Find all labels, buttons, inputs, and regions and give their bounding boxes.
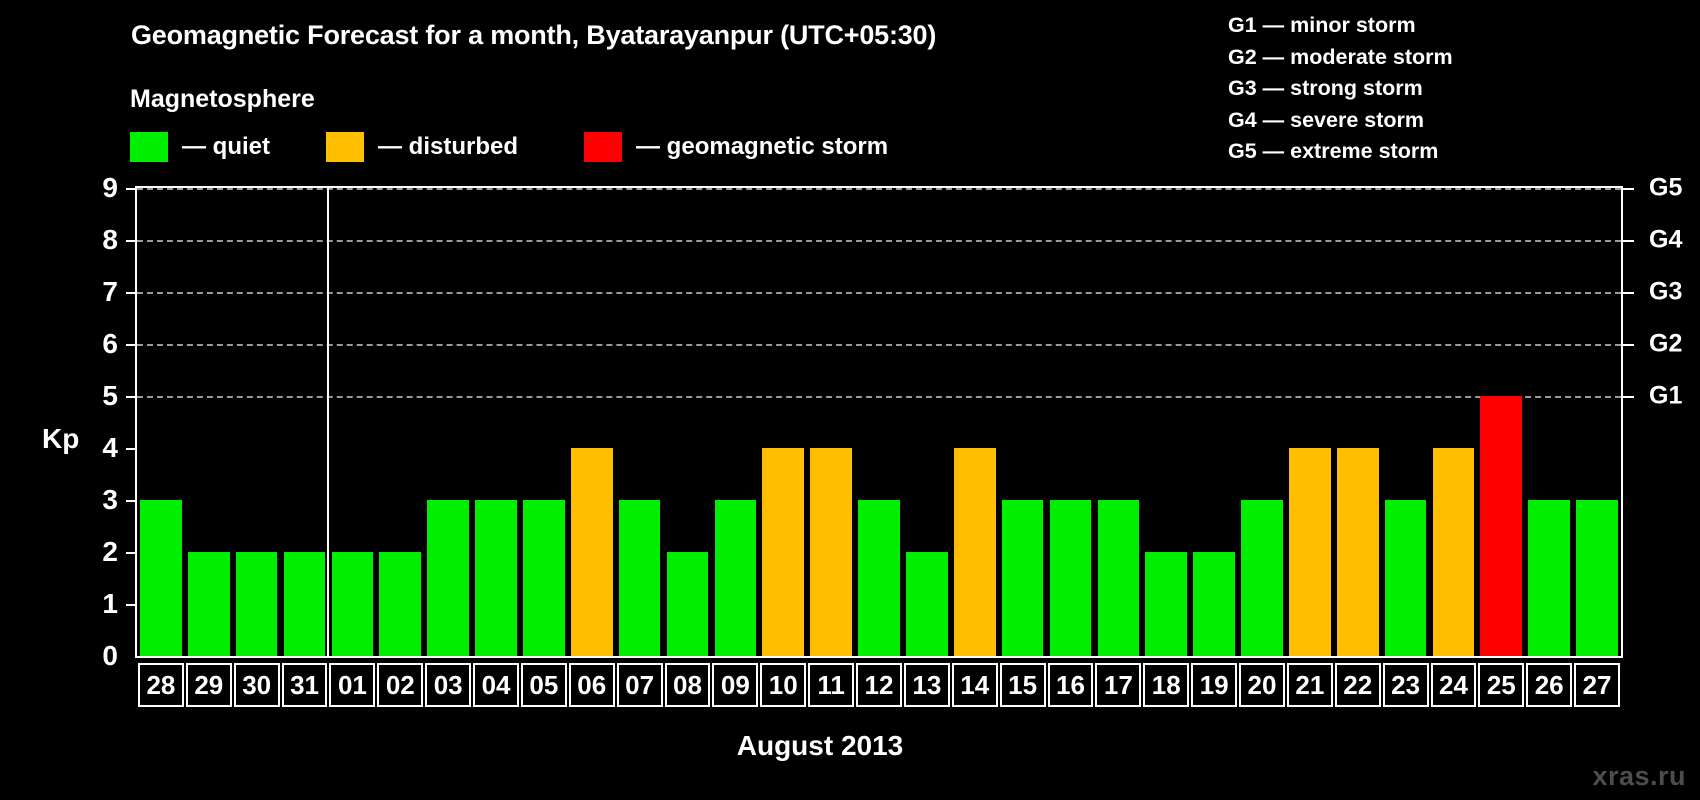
page-title: Geomagnetic Forecast for a month, Byatar… [131, 20, 936, 51]
bar [810, 448, 852, 656]
legend-label-quiet: — quiet [182, 133, 270, 161]
y-axis-tick-label: 4 [78, 432, 118, 464]
date-label: 21 [1287, 663, 1333, 707]
legend-swatch-storm [584, 132, 622, 162]
bar [1576, 500, 1618, 656]
date-label: 26 [1526, 663, 1572, 707]
y-axis-tick [126, 448, 135, 450]
legend-item-quiet: — quiet [130, 130, 270, 164]
bar [762, 448, 804, 656]
legend-item-storm: — geomagnetic storm [584, 130, 888, 164]
date-label: 20 [1239, 663, 1285, 707]
y-axis-tick-label: 0 [78, 640, 118, 672]
y-axis-tick [126, 500, 135, 502]
date-label: 11 [808, 663, 854, 707]
y-axis-tick-label: 2 [78, 536, 118, 568]
bar [1193, 552, 1235, 656]
date-label: 03 [425, 663, 471, 707]
bar [1002, 500, 1044, 656]
g-axis-tick-label: G3 [1649, 278, 1682, 307]
bar [715, 500, 757, 656]
y-axis-tick-label: 5 [78, 380, 118, 412]
date-label: 18 [1143, 663, 1189, 707]
bar [1241, 500, 1283, 656]
legend-swatch-disturbed [326, 132, 364, 162]
date-label: 17 [1095, 663, 1141, 707]
bar [475, 500, 517, 656]
bar [954, 448, 996, 656]
bars-container [137, 188, 1621, 656]
g-axis-tick-label: G4 [1649, 226, 1682, 255]
g-scale-item: G3 — strong storm [1228, 73, 1453, 105]
date-label: 29 [186, 663, 232, 707]
g-scale-legend: G1 — minor storm G2 — moderate storm G3 … [1228, 10, 1453, 168]
bar [1385, 500, 1427, 656]
magnetosphere-heading: Magnetosphere [130, 85, 315, 114]
date-label: 22 [1335, 663, 1381, 707]
date-label: 24 [1431, 663, 1477, 707]
legend-item-disturbed: — disturbed [326, 130, 518, 164]
bar [1289, 448, 1331, 656]
date-label: 10 [760, 663, 806, 707]
g-axis-tick [1623, 396, 1634, 398]
date-label: 09 [712, 663, 758, 707]
date-label: 23 [1383, 663, 1429, 707]
g-axis-tick-label: G1 [1649, 382, 1682, 411]
bar [1145, 552, 1187, 656]
g-axis-tick [1623, 344, 1634, 346]
y-axis-caption: Kp [42, 423, 79, 455]
date-label: 14 [952, 663, 998, 707]
bar [906, 552, 948, 656]
y-axis-tick-label: 8 [78, 224, 118, 256]
bar [188, 552, 230, 656]
g-axis-tick [1623, 292, 1634, 294]
date-label: 07 [617, 663, 663, 707]
plot-area [135, 186, 1623, 658]
g-scale-item: G2 — moderate storm [1228, 42, 1453, 74]
g-scale-item: G4 — severe storm [1228, 105, 1453, 137]
bar [1098, 500, 1140, 656]
g-scale-item: G1 — minor storm [1228, 10, 1453, 42]
bar [1480, 396, 1522, 656]
date-label: 15 [1000, 663, 1046, 707]
date-label: 01 [329, 663, 375, 707]
date-label: 12 [856, 663, 902, 707]
y-axis-tick [126, 240, 135, 242]
date-label: 16 [1048, 663, 1094, 707]
date-label: 19 [1191, 663, 1237, 707]
bar [1050, 500, 1092, 656]
date-label: 08 [665, 663, 711, 707]
y-axis-tick [126, 396, 135, 398]
x-axis-caption: August 2013 [0, 730, 1640, 762]
date-label: 05 [521, 663, 567, 707]
date-label: 31 [282, 663, 328, 707]
legend-label-storm: — geomagnetic storm [636, 133, 888, 161]
bar [571, 448, 613, 656]
date-label: 06 [569, 663, 615, 707]
y-axis-tick [126, 604, 135, 606]
y-axis-tick [126, 552, 135, 554]
date-label: 25 [1478, 663, 1524, 707]
bar [523, 500, 565, 656]
bar [284, 552, 326, 656]
bar [332, 552, 374, 656]
y-axis-tick [126, 292, 135, 294]
g-axis-tick [1623, 240, 1634, 242]
bar [379, 552, 421, 656]
bar [858, 500, 900, 656]
y-axis-tick-label: 3 [78, 484, 118, 516]
y-axis-tick-label: 1 [78, 588, 118, 620]
y-axis-tick [126, 188, 135, 190]
bar [1433, 448, 1475, 656]
bar [1337, 448, 1379, 656]
date-label: 02 [377, 663, 423, 707]
date-label: 28 [138, 663, 184, 707]
y-axis-tick-label: 7 [78, 276, 118, 308]
g-axis-tick-label: G2 [1649, 330, 1682, 359]
bar [140, 500, 182, 656]
g-scale-item: G5 — extreme storm [1228, 136, 1453, 168]
date-label: 27 [1574, 663, 1620, 707]
magnetosphere-legend: — quiet — disturbed — geomagnetic storm [130, 130, 888, 164]
bar [667, 552, 709, 656]
y-axis-tick-label: 6 [78, 328, 118, 360]
watermark: xras.ru [1592, 761, 1686, 792]
date-axis: 2829303101020304050607080910111213141516… [135, 663, 1623, 707]
legend-swatch-quiet [130, 132, 168, 162]
bar [619, 500, 661, 656]
y-axis-tick [126, 344, 135, 346]
bar [1528, 500, 1570, 656]
bar [236, 552, 278, 656]
date-label: 13 [904, 663, 950, 707]
date-label: 30 [234, 663, 280, 707]
date-label: 04 [473, 663, 519, 707]
bar [427, 500, 469, 656]
legend-label-disturbed: — disturbed [378, 133, 518, 161]
geomagnetic-forecast-chart: Geomagnetic Forecast for a month, Byatar… [0, 0, 1700, 800]
g-axis-tick [1623, 188, 1634, 190]
g-axis-tick-label: G5 [1649, 174, 1682, 203]
y-axis-tick-label: 9 [78, 172, 118, 204]
